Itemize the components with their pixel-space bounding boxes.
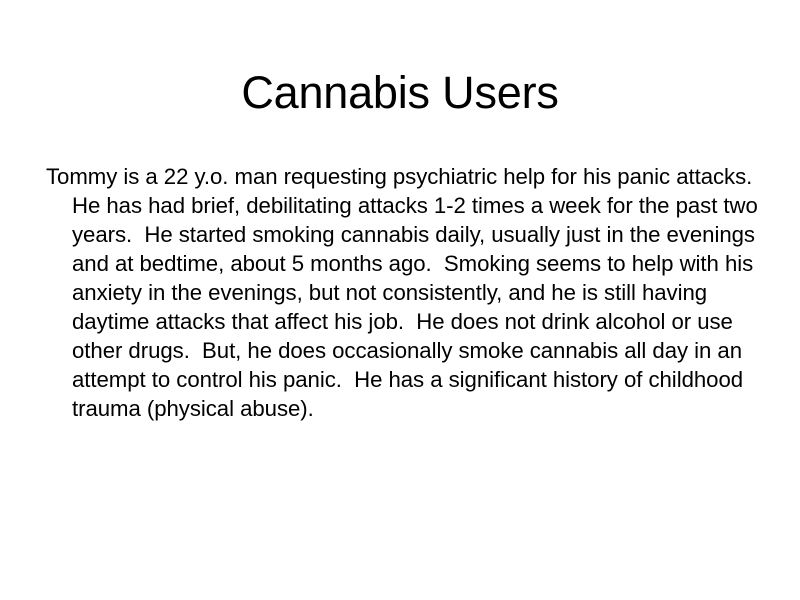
slide-canvas: Cannabis Users Tommy is a 22 y.o. man re… <box>0 0 800 600</box>
slide-title: Cannabis Users <box>40 66 760 120</box>
slide-body-placeholder: Tommy is a 22 y.o. man requesting psychi… <box>46 140 758 445</box>
slide-body-paragraph: Tommy is a 22 y.o. man requesting psychi… <box>46 162 758 423</box>
